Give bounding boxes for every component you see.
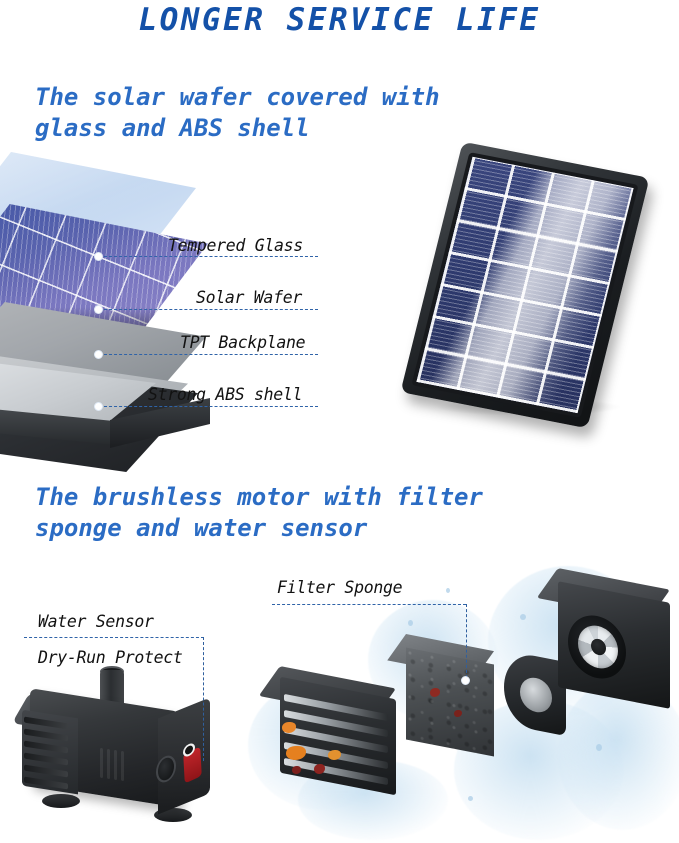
filter-sponge-texture: [406, 647, 494, 756]
infographic-page: LONGER SERVICE LIFE The solar wafer cove…: [0, 0, 679, 843]
exploded-pump-motor-diagram: [258, 560, 679, 843]
water-droplet: [468, 796, 473, 801]
callout-label-solar-wafer: Solar Wafer: [196, 288, 302, 307]
water-droplet: [520, 614, 526, 620]
leader-line-water-sensor-horizontal: [24, 637, 204, 638]
pump-suction-foot: [42, 794, 80, 808]
node-marker-solar-wafer: [94, 305, 103, 314]
pump-body-ridge: [100, 748, 103, 778]
node-marker-strong-abs-shell: [94, 402, 103, 411]
leader-line-tpt-backplane: [104, 354, 318, 355]
page-title: LONGER SERVICE LIFE: [0, 2, 679, 38]
water-droplet: [596, 744, 602, 751]
callout-label-water-sensor: Water Sensor: [38, 612, 154, 631]
node-marker-filter-sponge: [461, 676, 470, 685]
callout-label-dry-run-protect: Dry-Run Protect: [38, 648, 183, 667]
callout-label-strong-abs-shell: Strong ABS shell: [148, 385, 302, 404]
section-heading-motor: The brushless motor with filter sponge a…: [35, 482, 483, 544]
pump-body-ridge: [114, 750, 117, 780]
section-heading-solar-line2: glass and ABS shell: [35, 113, 440, 144]
pump-body-ridge: [121, 751, 124, 781]
leader-line-filter-sponge-vertical: [466, 604, 467, 678]
callout-label-tempered-glass: Tempered Glass: [168, 236, 303, 255]
solar-panel-body: [400, 142, 649, 429]
water-droplet: [446, 588, 450, 593]
section-heading-motor-line1: The brushless motor with filter: [35, 482, 483, 513]
callout-label-filter-sponge: Filter Sponge: [277, 578, 402, 597]
leader-line-water-sensor-vertical: [203, 637, 204, 761]
section-heading-solar: The solar wafer covered with glass and A…: [35, 82, 440, 144]
leader-line-strong-abs-shell: [104, 406, 318, 407]
leader-line-tempered-glass: [104, 256, 318, 257]
callout-label-tpt-backplane: TPT Backplane: [180, 333, 305, 352]
leader-line-filter-sponge-horizontal: [272, 604, 466, 605]
node-marker-tpt-backplane: [94, 350, 103, 359]
leader-line-solar-wafer: [104, 309, 318, 310]
section-heading-solar-line1: The solar wafer covered with: [35, 82, 440, 113]
solar-panel-product-photo: [402, 148, 658, 424]
pump-body-ridge: [107, 749, 110, 779]
section-heading-motor-line2: sponge and water sensor: [35, 513, 483, 544]
node-marker-tempered-glass: [94, 252, 103, 261]
water-droplet: [408, 620, 413, 626]
